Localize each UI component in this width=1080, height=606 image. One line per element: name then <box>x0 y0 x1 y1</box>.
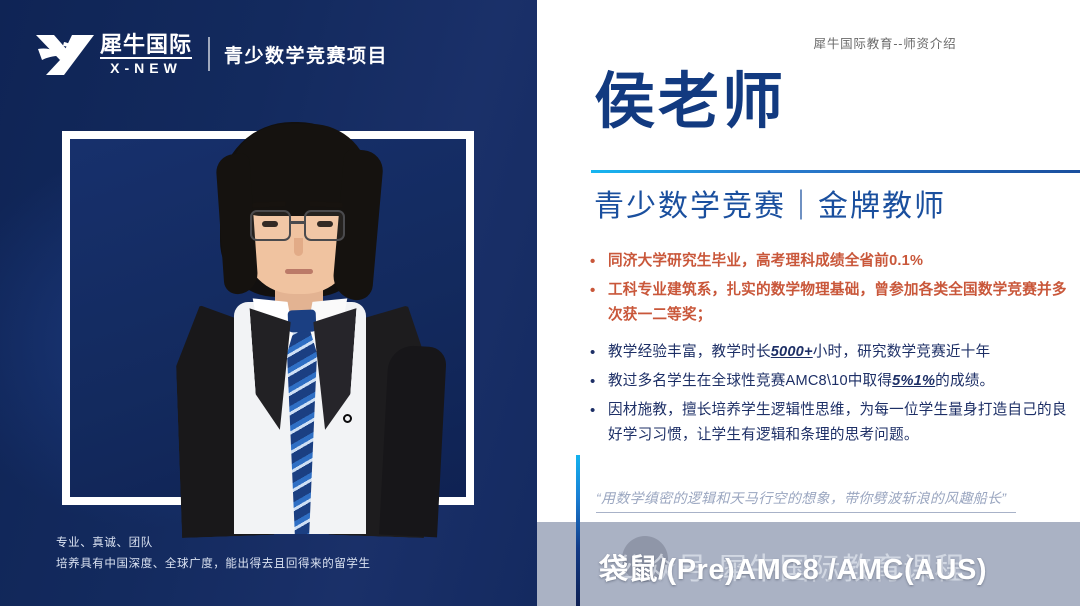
brand-tagline: 青少数学竞赛项目 <box>224 41 388 68</box>
logo-divider <box>208 37 210 71</box>
bullet-text: 同济大学研究生毕业，高考理科成绩全省前0.1% <box>608 249 1068 275</box>
left-footer-line-2: 培养具有中国深度、全球广度，能出得去且回得来的留学生 <box>56 554 371 575</box>
teacher-photo <box>70 139 466 497</box>
bullet-text: 教学经验丰富，教学时长5000+小时，研究数学竞赛近十年 <box>608 340 1068 366</box>
brand-logo-block[interactable]: 犀牛国际 X-NEW 青少数学竞赛项目 <box>34 25 388 83</box>
bullet-dot-icon: • <box>590 249 608 275</box>
profile-bullet-list: •同济大学研究生毕业，高考理科成绩全省前0.1%•工科专业建筑系，扎实的数学物理… <box>590 249 1068 451</box>
bullet-text: 教过多名学生在全球性竞赛AMC8\10中取得5%1%的成绩。 <box>608 369 1068 395</box>
accent-bar <box>576 455 580 606</box>
profile-quote: “用数学缜密的逻辑和天马行空的想象，带你劈波斩浪的风趣船长” <box>596 488 1016 513</box>
bullet-dot-icon: • <box>590 340 608 366</box>
brand-name-cn: 犀牛国际 <box>100 33 192 59</box>
bullet-item: •同济大学研究生毕业，高考理科成绩全省前0.1% <box>590 249 1068 275</box>
bullet-item: •因材施教，擅长培养学生逻辑性思维，为每一位学生量身打造自己的良好学习习惯，让学… <box>590 398 1068 448</box>
teacher-portrait-illustration <box>170 114 430 534</box>
bullet-text-part: 小时，研究数学竞赛近十年 <box>813 344 991 360</box>
bottom-course-band: 公众号 犀牛国际教育课程 袋鼠/(Pre)AMC8 /AMC(AUS) <box>537 522 1080 606</box>
left-footer-line-1: 专业、真诚、团队 <box>56 533 371 554</box>
course-title: 袋鼠/(Pre)AMC8 /AMC(AUS) <box>599 546 1079 588</box>
left-footer: 专业、真诚、团队 培养具有中国深度、全球广度，能出得去且回得来的留学生 <box>56 533 371 576</box>
bullet-item: •教过多名学生在全球性竞赛AMC8\10中取得5%1%的成绩。 <box>590 369 1068 395</box>
bullet-gap <box>590 331 1068 340</box>
bullet-text-part: 教学经验丰富，教学时长 <box>608 344 771 360</box>
bullet-dot-icon: • <box>590 398 608 448</box>
page-subtitle: 青少数学竞赛｜金牌教师 <box>594 188 946 226</box>
x-new-rhino-logo-icon <box>34 29 96 79</box>
bullet-dot-icon: • <box>590 369 608 395</box>
brand-wordmark: 犀牛国际 X-NEW <box>100 33 192 75</box>
page-title: 侯老师 <box>594 71 786 132</box>
teacher-photo-frame <box>62 131 474 505</box>
brand-name-en: X-NEW <box>110 61 182 75</box>
bullet-text-part: 教过多名学生在全球性竞赛AMC8\10中取得 <box>608 373 892 389</box>
slide-root: 犀牛国际 X-NEW 青少数学竞赛项目 American Mathe Comp <box>0 0 1080 606</box>
bullet-item: •工科专业建筑系，扎实的数学物理基础，曾参加各类全国数学竞赛并多次获一二等奖； <box>590 278 1068 328</box>
breadcrumb: 犀牛国际教育--师资介绍 <box>730 33 1040 52</box>
title-divider <box>591 170 1080 173</box>
bullet-item: •教学经验丰富，教学时长5000+小时，研究数学竞赛近十年 <box>590 340 1068 366</box>
bullet-text: 因材施教，擅长培养学生逻辑性思维，为每一位学生量身打造自己的良好学习习惯，让学生… <box>608 398 1068 448</box>
bullet-text-part: 的成绩。 <box>935 373 994 389</box>
bullet-text: 工科专业建筑系，扎实的数学物理基础，曾参加各类全国数学竞赛并多次获一二等奖； <box>608 278 1068 328</box>
bullet-text-part: 因材施教，擅长培养学生逻辑性思维，为每一位学生量身打造自己的良好学习习惯，让学生… <box>608 402 1067 443</box>
bullet-emphasis: 5%1% <box>892 373 935 389</box>
bullet-text-part: 工科专业建筑系，扎实的数学物理基础，曾参加各类全国数学竞赛并多次获一二等奖； <box>608 282 1067 323</box>
bullet-emphasis: 5000+ <box>771 344 813 360</box>
bullet-dot-icon: • <box>590 278 608 328</box>
bullet-text-part: 同济大学研究生毕业，高考理科成绩全省前0.1% <box>608 253 923 269</box>
